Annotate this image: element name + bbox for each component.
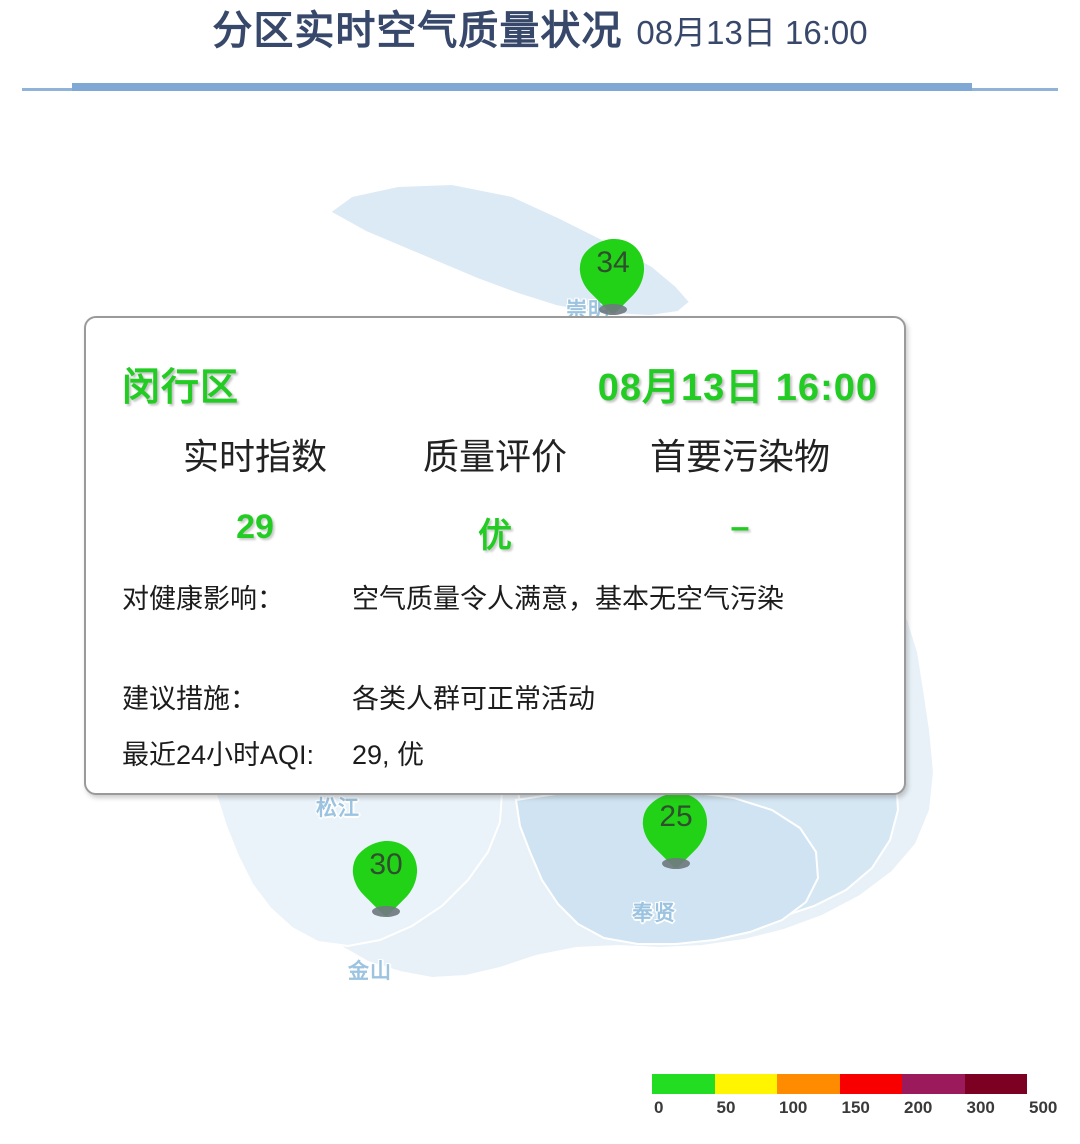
legend-segment: [777, 1074, 840, 1094]
panel-datetime: 08月13日 16:00: [598, 356, 878, 411]
legend-tick: 300: [967, 1098, 995, 1118]
panel-metric-labels-row: 实时指数 质量评价 首要污染物: [130, 428, 870, 480]
map-pin-base-icon: [599, 304, 627, 315]
legend-tick: 200: [904, 1098, 932, 1118]
legend-segment: [715, 1074, 778, 1094]
aqi-color-legend: 050100150200300500: [652, 1074, 1027, 1124]
detail-label-health-impact: 对健康影响：: [122, 580, 352, 619]
metric-label-quality-rating: 质量评价: [380, 428, 610, 480]
detail-label-aqi-24h: 最近24小时AQI:: [122, 736, 352, 775]
metric-value-quality-rating: 优: [380, 508, 610, 557]
metric-value-realtime-index: 29: [130, 508, 380, 557]
legend-tick-labels: 050100150200300500: [652, 1098, 1027, 1122]
metric-label-primary-pollutant: 首要污染物: [610, 428, 870, 480]
page-header: 分区实时空气质量状况 08月13日 16:00: [0, 0, 1080, 100]
detail-value-advice: 各类人群可正常活动: [352, 680, 882, 719]
detail-row-aqi-24h: 最近24小时AQI: 29, 优: [122, 736, 882, 775]
map-pin-base-icon: [662, 858, 690, 869]
detail-value-health-impact: 空气质量令人满意，基本无空气污染: [352, 580, 882, 619]
map-pin-base-icon: [372, 906, 400, 917]
legend-segment: [840, 1074, 903, 1094]
map-label-jinshan: 金山: [348, 955, 392, 985]
header-title-row: 分区实时空气质量状况 08月13日 16:00: [0, 6, 1080, 72]
panel-district-name: 闵行区: [122, 356, 239, 411]
map-marker-jinshan[interactable]: 30: [350, 840, 422, 936]
legend-tick: 150: [842, 1098, 870, 1118]
map-marker-value: 25: [640, 800, 712, 834]
detail-row-health-impact: 对健康影响： 空气质量令人满意，基本无空气污染: [122, 580, 882, 619]
header-datetime: 08月13日 16:00: [636, 8, 867, 58]
panel-metric-values-row: 29 优 –: [130, 508, 870, 557]
legend-tick: 0: [654, 1098, 663, 1118]
page-title: 分区实时空气质量状况: [212, 6, 622, 56]
metric-value-primary-pollutant: –: [610, 508, 870, 557]
map-marker-value: 34: [577, 246, 649, 280]
map-label-fengxian: 奉贤: [632, 897, 676, 927]
map-label-songjiang: 松江: [316, 792, 360, 822]
detail-label-advice: 建议措施：: [122, 680, 352, 719]
metric-label-realtime-index: 实时指数: [130, 428, 380, 480]
legend-tick: 100: [779, 1098, 807, 1118]
panel-header-row: 闵行区 08月13日 16:00: [122, 356, 878, 411]
district-info-panel[interactable]: 闵行区 08月13日 16:00 实时指数 质量评价 首要污染物 29 优 – …: [84, 316, 906, 795]
legend-color-bars: [652, 1074, 1027, 1094]
detail-row-advice: 建议措施： 各类人群可正常活动: [122, 680, 882, 719]
detail-value-aqi-24h: 29, 优: [352, 736, 882, 775]
map-marker-fengxian[interactable]: 25: [640, 792, 712, 888]
legend-tick: 500: [1029, 1098, 1057, 1118]
legend-segment: [902, 1074, 965, 1094]
legend-segment: [965, 1074, 1028, 1094]
header-rule-thick: [72, 83, 972, 91]
legend-tick: 50: [717, 1098, 736, 1118]
legend-segment: [652, 1074, 715, 1094]
map-marker-value: 30: [350, 848, 422, 882]
